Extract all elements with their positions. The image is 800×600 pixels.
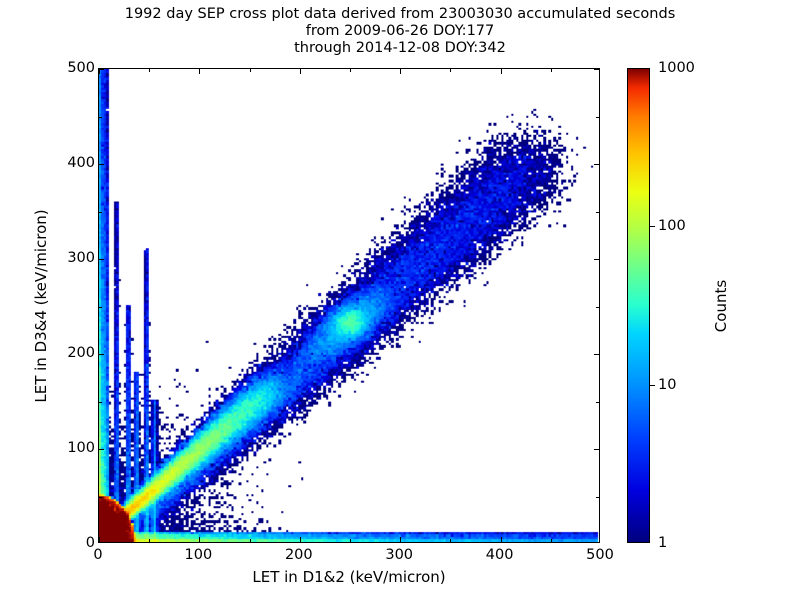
chart-title-line-3: through 2014-12-08 DOY:342 <box>0 40 800 57</box>
x-tick-minor <box>551 539 552 542</box>
y-tick-label-500: 500 <box>67 60 95 76</box>
y-axis-label: LET in D3&4 (keV/micron) <box>32 209 50 402</box>
x-tick-minor <box>350 69 351 72</box>
x-tick-major <box>300 69 301 74</box>
colorbar <box>627 68 650 543</box>
x-tick-label-100: 100 <box>185 547 213 563</box>
y-tick-major <box>99 259 104 260</box>
chart-title-line-2: from 2009-06-26 DOY:177 <box>0 23 800 40</box>
colorbar-tick-label-1000: 1000 <box>658 60 695 76</box>
x-tick-minor <box>250 539 251 542</box>
y-tick-minor <box>99 402 102 403</box>
x-axis-label: LET in D1&2 (keV/micron) <box>98 568 600 586</box>
colorbar-tick-label-100: 100 <box>658 218 686 234</box>
y-tick-major <box>594 449 599 450</box>
x-tick-minor <box>149 539 150 542</box>
colorbar-label: Counts <box>712 279 730 331</box>
y-tick-label-400: 400 <box>67 155 95 171</box>
x-tick-major <box>199 69 200 74</box>
figure-canvas: 1992 day SEP cross plot data derived fro… <box>0 0 800 600</box>
y-tick-minor <box>596 117 599 118</box>
x-tick-minor <box>551 69 552 72</box>
y-tick-major <box>594 164 599 165</box>
y-tick-minor <box>99 307 102 308</box>
y-tick-major <box>594 69 599 70</box>
y-tick-minor <box>99 212 102 213</box>
x-tick-label-400: 400 <box>486 547 514 563</box>
x-tick-major <box>300 537 301 542</box>
x-tick-major <box>400 69 401 74</box>
y-tick-minor <box>596 497 599 498</box>
y-tick-minor <box>596 212 599 213</box>
colorbar-tick-label-10: 10 <box>658 377 676 393</box>
y-tick-minor <box>99 497 102 498</box>
x-tick-minor <box>450 69 451 72</box>
scatter-density-plot <box>99 69 599 542</box>
y-tick-major <box>99 69 104 70</box>
x-tick-minor <box>250 69 251 72</box>
x-tick-minor <box>450 539 451 542</box>
y-tick-label-200: 200 <box>67 345 95 361</box>
x-tick-label-200: 200 <box>285 547 313 563</box>
y-tick-major <box>99 449 104 450</box>
y-tick-major <box>594 259 599 260</box>
x-tick-label-300: 300 <box>385 547 413 563</box>
y-tick-label-100: 100 <box>67 440 95 456</box>
chart-title-line-1: 1992 day SEP cross plot data derived fro… <box>0 6 800 23</box>
x-tick-major <box>501 69 502 74</box>
colorbar-tick <box>650 226 655 227</box>
x-tick-major <box>501 537 502 542</box>
colorbar-tick-label-1: 1 <box>658 535 667 551</box>
y-tick-minor <box>596 307 599 308</box>
y-tick-major <box>99 164 104 165</box>
x-tick-major <box>199 537 200 542</box>
y-tick-minor <box>99 117 102 118</box>
y-tick-label-0: 0 <box>86 535 95 551</box>
chart-title: 1992 day SEP cross plot data derived fro… <box>0 6 800 57</box>
y-tick-major <box>594 354 599 355</box>
x-tick-major <box>99 537 100 542</box>
plot-area <box>98 68 600 543</box>
y-tick-major <box>99 354 104 355</box>
y-tick-minor <box>596 402 599 403</box>
x-tick-minor <box>149 69 150 72</box>
y-tick-label-300: 300 <box>67 250 95 266</box>
colorbar-gradient <box>628 69 649 542</box>
x-tick-major <box>400 537 401 542</box>
x-tick-minor <box>350 539 351 542</box>
colorbar-tick <box>650 385 655 386</box>
x-tick-label-500: 500 <box>586 547 614 563</box>
